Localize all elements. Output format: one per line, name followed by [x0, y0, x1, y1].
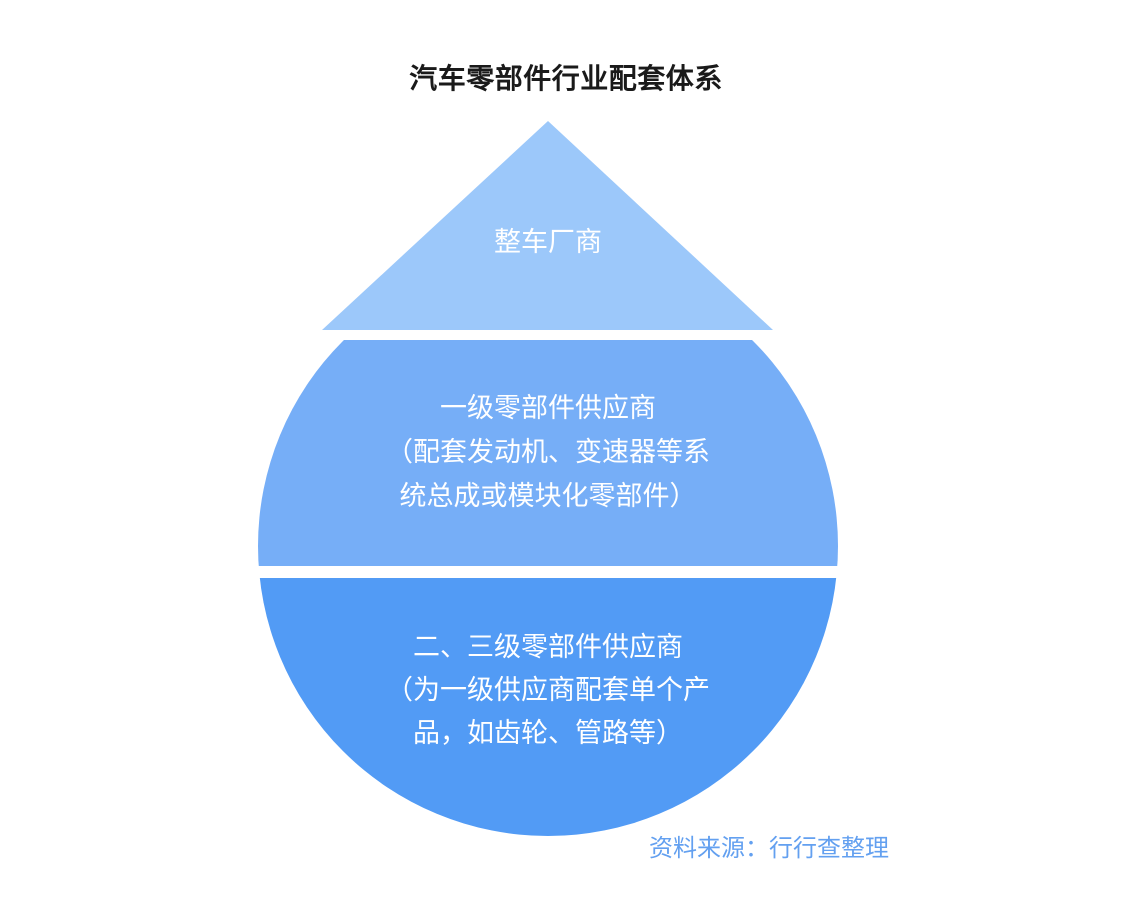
source-note: 资料来源：行行查整理: [0, 832, 1132, 866]
tier-label-oem: 整车厂商: [322, 222, 774, 262]
tier-label-tier1: 一级零部件供应商 （配套发动机、变速器等系 统总成或模块化零部件）: [280, 386, 816, 518]
tier-label-tier23: 二、三级零部件供应商 （为一级供应商配套单个产 品，如齿轮、管路等）: [300, 626, 796, 755]
slide-canvas: 汽车零部件行业配套体系 整车厂商 一级零部件供应商 （配套发动机、变速器等系 统…: [0, 0, 1132, 918]
